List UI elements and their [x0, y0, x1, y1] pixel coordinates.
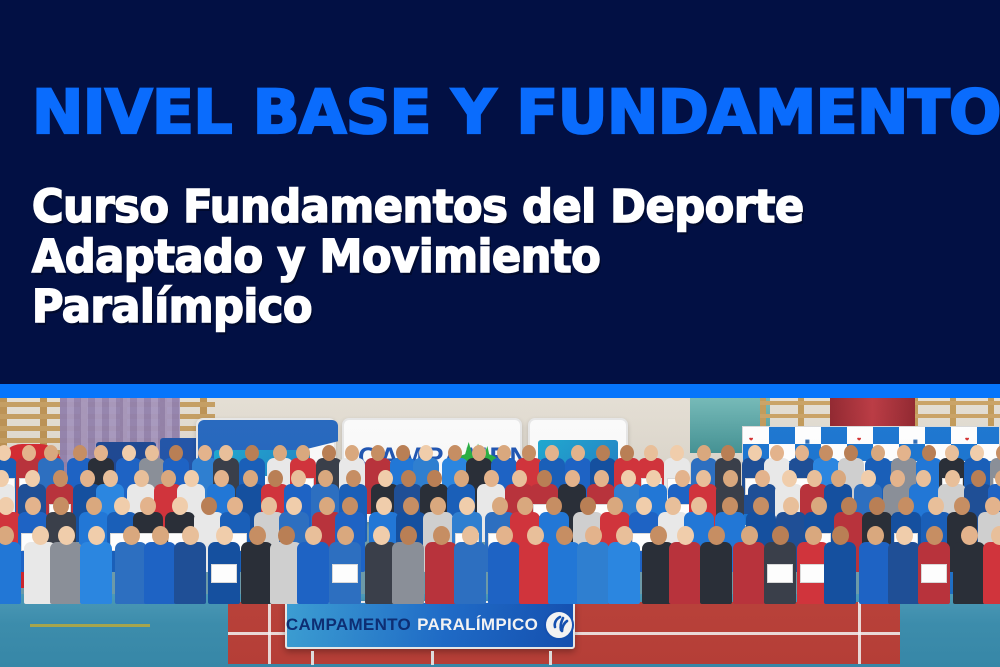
crowd-person-head [291, 470, 306, 487]
crowd-person [953, 542, 985, 604]
crowd-person-head [675, 470, 690, 487]
crowd-person-head [454, 470, 469, 487]
sponsor-logo-2: ▦ [805, 439, 810, 445]
crowd-person-head [430, 497, 446, 515]
crowd-person-head [268, 470, 283, 487]
banner-text-primary: CAMPAMENTO [286, 615, 411, 635]
crowd-person-head [961, 526, 978, 545]
crowd-person [608, 542, 640, 604]
crowd-person-head [807, 470, 822, 487]
crowd-person-head [342, 497, 358, 515]
crowd-person-head [401, 470, 416, 487]
crowd-person-head [755, 470, 770, 487]
crowd-person-head [182, 526, 199, 545]
crowd-person-head [103, 470, 118, 487]
crowd-person [983, 542, 1000, 604]
crowd-person-head [22, 445, 36, 461]
crowd-person-head [152, 526, 169, 545]
crowd-person-head [721, 445, 735, 461]
crowd-person [425, 542, 457, 604]
crowd-person-head [88, 526, 105, 545]
crowd-person [454, 542, 486, 604]
crowd-person-head [319, 497, 335, 515]
crowd-person [80, 542, 112, 604]
crowd-person-head [492, 497, 508, 515]
crowd-person-head [748, 445, 762, 461]
crowd-group [0, 458, 1000, 608]
crowd-person-head [616, 526, 633, 545]
crowd-person-head [636, 497, 652, 515]
crowd-person-head [0, 526, 14, 545]
crowd-person-head [869, 497, 885, 515]
banner-leg-2 [431, 651, 434, 665]
crowd-person-head [696, 470, 711, 487]
crowd-person-head [585, 526, 602, 545]
accent-divider-bar [0, 384, 1000, 398]
crowd-person-head [782, 470, 797, 487]
crowd-person-head [844, 445, 858, 461]
crowd-person-head [565, 470, 580, 487]
crowd-person-head [831, 470, 846, 487]
crowd-person-head [916, 470, 931, 487]
crowd-person-head [517, 497, 533, 515]
crowd-person-head [691, 497, 707, 515]
crowd-person-head [805, 526, 822, 545]
crowd-person-head [890, 470, 905, 487]
certificate [800, 564, 826, 583]
crowd-person-head [996, 445, 1000, 461]
crowd-person-head [596, 445, 610, 461]
crowd-person-head [201, 497, 217, 515]
crowd-person-head [459, 497, 475, 515]
crowd-person-head [216, 526, 233, 545]
crowd-person-head [145, 445, 159, 461]
crowd-person [50, 542, 82, 604]
crowd-person [297, 542, 329, 604]
crowd-person-head [753, 497, 769, 515]
crowd-person-head [723, 470, 738, 487]
crowd-person-head [811, 497, 827, 515]
court-line-3 [858, 602, 861, 664]
crowd-person-head [546, 497, 562, 515]
crowd-person-head [512, 470, 527, 487]
crowd-person-head [783, 497, 799, 515]
eyebrow-heading: NIVEL BASE Y FUNDAMENTOS [32, 82, 1000, 143]
crowd-person [548, 542, 580, 604]
crowd-person-head [741, 526, 758, 545]
crowd-person-head [373, 526, 390, 545]
crowd-person-head [161, 470, 176, 487]
crowd-person-head [537, 470, 552, 487]
banner-leg-3 [549, 651, 552, 665]
crowd-person-head [337, 526, 354, 545]
crowd-person-head [114, 497, 130, 515]
crowd-person [824, 542, 856, 604]
crowd-person [0, 542, 21, 604]
group-photo: CAMPAMENTO ❤ ▦ ❤ ▦ ❤ ▦ ❤ [0, 398, 1000, 667]
certificate [767, 564, 793, 583]
crowd-person-head [273, 445, 287, 461]
crowd-person [669, 542, 701, 604]
crowd-person-head [172, 497, 188, 515]
crowd-person-head [140, 497, 156, 515]
crowd-person-head [86, 497, 102, 515]
crowd-person-head [286, 497, 302, 515]
page-title-line-3: Paralímpico [32, 282, 1000, 332]
crowd-person-head [496, 526, 513, 545]
crowd-person-head [278, 526, 295, 545]
crowd-person-head [922, 445, 936, 461]
crowd-person [144, 542, 176, 604]
crowd-person-head [991, 526, 1000, 545]
crowd-person-head [123, 526, 140, 545]
crowd-person [174, 542, 206, 604]
crowd-person-head [871, 445, 885, 461]
crowd-person-head [322, 445, 336, 461]
crowd-person-head [94, 445, 108, 461]
crowd-person-head [0, 445, 11, 461]
crowd-person-head [378, 470, 393, 487]
crowd-person-head [841, 497, 857, 515]
crowd-person [519, 542, 551, 604]
crowd-person-head [53, 470, 68, 487]
crowd-person-head [795, 445, 809, 461]
crowd-person [918, 542, 950, 604]
page-title: Curso Fundamentos del Deporte Adaptado y… [32, 182, 1000, 332]
crowd-person-head [433, 526, 450, 545]
crowd-person-head [897, 445, 911, 461]
crowd-person-head [0, 497, 14, 515]
crowd-person-head [945, 470, 960, 487]
crowd-person [764, 542, 796, 604]
crowd-person-head [462, 526, 479, 545]
crowd-person-head [484, 470, 499, 487]
crowd-person-head [646, 470, 661, 487]
crowd-person-head [650, 526, 667, 545]
crowd-person-head [400, 526, 417, 545]
crowd-person [115, 542, 147, 604]
crowd-person-head [122, 445, 136, 461]
crowd-person-head [219, 445, 233, 461]
crowd-person-head [722, 497, 738, 515]
crowd-person-head [472, 445, 486, 461]
crowd-person-head [620, 445, 634, 461]
crowd-person [392, 542, 424, 604]
crowd-person-head [184, 470, 199, 487]
crowd-person-head [227, 497, 243, 515]
crowd-person-head [448, 445, 462, 461]
crowd-person [700, 542, 732, 604]
crowd-person-head [708, 526, 725, 545]
crowd-person-head [928, 497, 944, 515]
crowd-person-head [25, 497, 41, 515]
crowd-person-head [832, 526, 849, 545]
crowd-person-head [971, 470, 986, 487]
crowd-person-head [522, 445, 536, 461]
paralympic-agitos-icon [544, 610, 574, 640]
crowd-person-head [898, 497, 914, 515]
crowd-person-head [249, 526, 266, 545]
crowd-person-head [819, 445, 833, 461]
crowd-person-head [32, 526, 49, 545]
crowd-person [577, 542, 609, 604]
crowd-person-head [556, 526, 573, 545]
crowd-person-head [371, 445, 385, 461]
page-title-line-2: Adaptado y Movimiento [32, 232, 1000, 282]
crowd-person-head [58, 526, 75, 545]
crowd-person-head [214, 470, 229, 487]
crowd-person-head [261, 497, 277, 515]
crowd-person-head [697, 445, 711, 461]
crowd-person-head [945, 445, 959, 461]
crowd-person-head [318, 470, 333, 487]
crowd-person-head [896, 526, 913, 545]
certificate [211, 564, 237, 583]
crowd-person-head [44, 445, 58, 461]
crowd-person-head [985, 497, 1000, 515]
page-title-line-1: Curso Fundamentos del Deporte [32, 182, 1000, 232]
crowd-person-head [243, 470, 258, 487]
crowd-person-head [644, 445, 658, 461]
sponsor-logo-1: ❤ [749, 437, 753, 443]
floor-marking-yellow [30, 624, 150, 627]
crowd-person-head [396, 445, 410, 461]
crowd-person-head [53, 497, 69, 515]
crowd-person [888, 542, 920, 604]
crowd-person [329, 542, 361, 604]
crowd-person-head [73, 445, 87, 461]
crowd-person-head [527, 526, 544, 545]
crowd-person-head [545, 445, 559, 461]
sponsor-logo-5: ❤ [965, 437, 969, 443]
crowd-person-head [198, 445, 212, 461]
crowd-person-head [926, 526, 943, 545]
campamento-paralimpico-banner: CAMPAMENTO PARALÍMPICO [285, 601, 575, 649]
certificate [332, 564, 358, 583]
crowd-person-head [772, 526, 789, 545]
crowd-person-head [497, 445, 511, 461]
crowd-person [241, 542, 273, 604]
sponsor-logo-3: ❤ [857, 437, 861, 443]
crowd-person-head [376, 497, 392, 515]
crowd-person-head [621, 470, 636, 487]
crowd-person-head [594, 470, 609, 487]
crowd-person [488, 542, 520, 604]
crowd-person-head [403, 497, 419, 515]
crowd-person [208, 542, 240, 604]
crowd-person-head [305, 526, 322, 545]
crowd-person-head [134, 470, 149, 487]
title-panel: NIVEL BASE Y FUNDAMENTOS Curso Fundament… [0, 0, 1000, 384]
certificate [921, 564, 947, 583]
crowd-person-head [607, 497, 623, 515]
crowd-person-head [169, 445, 183, 461]
crowd-person-head [345, 445, 359, 461]
crowd-person-head [245, 445, 259, 461]
crowd-person-head [954, 497, 970, 515]
crowd-person-head [867, 526, 884, 545]
crowd-person-head [80, 470, 95, 487]
banner-text-secondary: PARALÍMPICO [417, 615, 538, 635]
crowd-person-head [861, 470, 876, 487]
crowd-person-head [25, 470, 40, 487]
crowd-person-head [677, 526, 694, 545]
crowd-person-head [995, 470, 1000, 487]
crowd-person-head [571, 445, 585, 461]
crowd-person-head [580, 497, 596, 515]
crowd-person-head [970, 445, 984, 461]
poster-root: NIVEL BASE Y FUNDAMENTOS Curso Fundament… [0, 0, 1000, 667]
sponsor-logo-4: ▦ [913, 439, 918, 445]
crowd-person-head [770, 445, 784, 461]
crowd-person-head [346, 470, 361, 487]
banner-leg-1 [311, 651, 314, 665]
crowd-person-head [427, 470, 442, 487]
crowd-person [859, 542, 891, 604]
crowd-person-head [670, 445, 684, 461]
crowd-person [733, 542, 765, 604]
crowd-person-head [665, 497, 681, 515]
crowd-person-head [419, 445, 433, 461]
crowd-person-head [296, 445, 310, 461]
